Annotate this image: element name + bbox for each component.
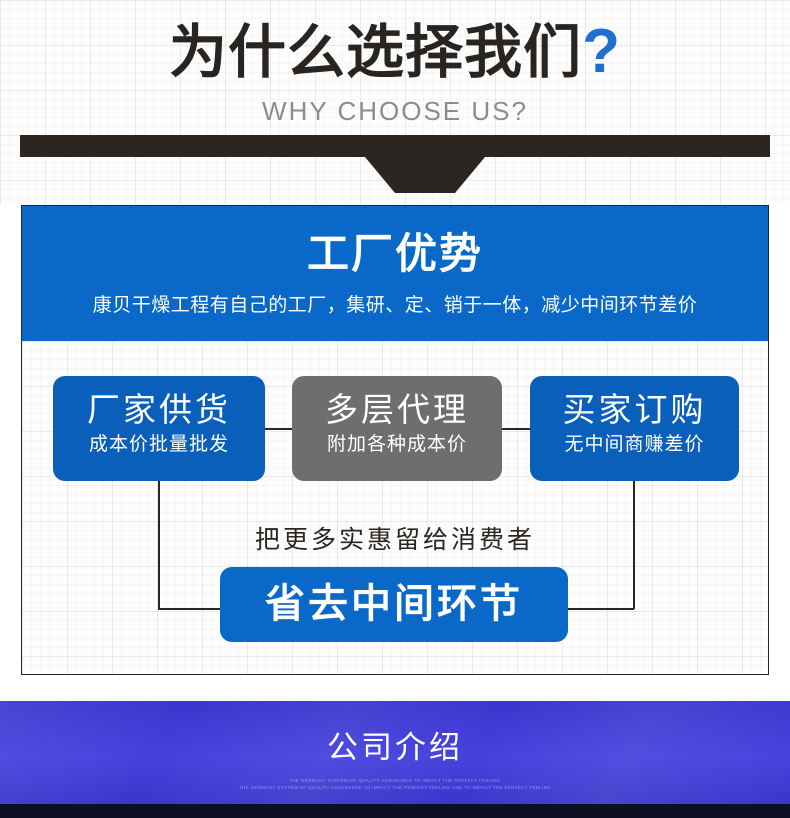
connector-box2-to-box3 [502,428,530,430]
company-intro-english-line-2: THE GERMANY SYSTEM OF QUALITY ASSURANCE … [0,784,790,791]
page-root: 为什么选择我们? WHY CHOOSE US? 工厂优势 康贝干燥工程有自己的工… [0,0,790,818]
header-section: 为什么选择我们? WHY CHOOSE US? [0,0,790,205]
footer-bottom-strip [0,804,790,818]
feature-box-buyer-order[interactable]: 买家订购 无中间商赚差价 [530,376,739,481]
feature-box-manufacturer-supply[interactable]: 厂家供货 成本价批量批发 [53,376,265,481]
down-arrow-icon [365,157,485,193]
company-intro-banner: 公司介绍 THE GERMANY SYSTEM OF QUALITY ASSUR… [0,701,790,804]
connector-box1-to-box2 [265,428,292,430]
page-title-question-mark: ? [582,17,621,86]
company-intro-english-line-1: THE GERMANY SYSTEM OF QUALITY ASSURANCE … [0,777,790,784]
summary-pill-label: 省去中间环节 [220,567,568,642]
banner-subtitle: 康贝干燥工程有自己的工厂，集研、定、销于一体，减少中间环节差价 [22,292,768,320]
feature-box-subtitle: 附加各种成本价 [292,432,502,458]
connector-bottom-left-horizontal [158,608,222,610]
feature-box-title: 多层代理 [292,390,502,430]
feature-box-multi-level-agency[interactable]: 多层代理 附加各种成本价 [292,376,502,481]
page-subtitle: WHY CHOOSE US? [0,95,790,127]
feature-box-subtitle: 成本价批量批发 [53,432,265,458]
connector-bottom-right-horizontal [567,608,634,610]
banner-title: 工厂优势 [22,228,768,280]
feature-box-subtitle: 无中间商赚差价 [530,432,739,458]
page-title: 为什么选择我们? [0,16,790,89]
card-banner: 工厂优势 康贝干燥工程有自己的工厂，集研、定、销于一体，减少中间环节差价 [22,206,768,341]
company-intro-english-block: THE GERMANY SYSTEM OF QUALITY ASSURANCE … [0,777,790,791]
company-intro-title: 公司介绍 [0,727,790,769]
factory-advantage-card: 工厂优势 康贝干燥工程有自己的工厂，集研、定、销于一体，减少中间环节差价 厂家供… [21,205,769,675]
summary-pill[interactable]: 省去中间环节 [220,567,568,642]
feature-box-title: 买家订购 [530,390,739,430]
feature-box-title: 厂家供货 [53,390,265,430]
summary-text: 把更多实惠留给消费者 [22,523,768,557]
card-body: 厂家供货 成本价批量批发 多层代理 附加各种成本价 买家订购 无中间商赚差价 把… [22,341,768,674]
page-title-cn: 为什么选择我们 [169,20,582,85]
